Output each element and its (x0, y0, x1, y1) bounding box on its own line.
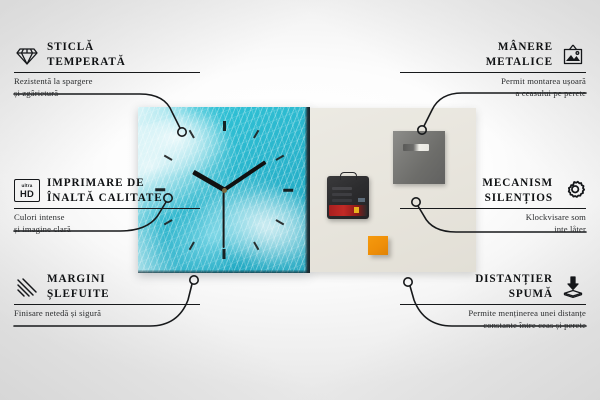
clock-second-hand (223, 190, 225, 248)
clock-tick (164, 155, 173, 161)
clock-tick (253, 241, 259, 250)
hd-badge-main-label: HD (20, 189, 34, 198)
callout-title: MÂNERE METALICE (486, 40, 553, 70)
diamond-icon (14, 42, 40, 68)
callout-divider (14, 72, 200, 74)
callout-subtitle-line2: constante între ceas și perete (400, 320, 586, 332)
hanger-slot (403, 144, 429, 151)
callout-divider (400, 304, 586, 306)
callout-subtitle-line1: Culori intense (14, 212, 200, 224)
clock-tick (189, 241, 195, 250)
callout-subtitle-line1: Permit montarea ușoară (400, 76, 586, 88)
clock-tick (223, 249, 226, 259)
callout-header: STICLĂ TEMPERATĂ (14, 40, 200, 70)
movement-chip (358, 198, 365, 202)
aa-battery (329, 205, 367, 216)
callout-sticla-temperata: STICLĂ TEMPERATĂ Rezistentă la spargere … (14, 40, 200, 100)
clock-tick (189, 130, 195, 139)
callout-subtitle-line1: Finisare netedă și sigură (14, 308, 200, 320)
callout-header: DISTANȚIER SPUMĂ (400, 272, 586, 302)
callout-divider (400, 72, 586, 74)
callout-mecanism-silentios: MECANISM SILENȚIOS Klockvisare som inte … (400, 176, 586, 236)
callout-title: STICLĂ TEMPERATĂ (47, 40, 126, 70)
press-down-icon (560, 274, 586, 300)
clock-tick (283, 189, 293, 192)
callout-subtitle-line2: inte låter (400, 224, 586, 236)
diagonal-lines-icon (14, 274, 40, 300)
callout-title: IMPRIMARE DE ÎNALTĂ CALITATE (47, 176, 163, 206)
callout-margini-slefuite: MARGINI ȘLEFUITE Finisare netedă și sigu… (14, 272, 200, 320)
callout-imprimare-calitate: ultra HD IMPRIMARE DE ÎNALTĂ CALITATE Cu… (14, 176, 200, 236)
quartz-movement (327, 176, 369, 219)
clock-center-hub (222, 188, 227, 193)
callout-title: MECANISM SILENȚIOS (482, 176, 553, 206)
callout-subtitle-line2: a ceasului pe perete (400, 88, 586, 100)
callout-header: ultra HD IMPRIMARE DE ÎNALTĂ CALITATE (14, 176, 200, 206)
movement-hanger-loop (340, 172, 357, 180)
callout-divider (14, 304, 200, 306)
callout-header: MARGINI ȘLEFUITE (14, 272, 200, 302)
callout-manere-metalice: MÂNERE METALICE Permit montarea ușoară a… (400, 40, 586, 100)
clock-minute-hand (223, 160, 267, 191)
ultra-hd-icon: ultra HD (14, 178, 40, 204)
clock-tick (253, 130, 259, 139)
callout-header: MECANISM SILENȚIOS (400, 176, 586, 206)
hd-badge: ultra HD (14, 179, 40, 202)
clock-tick (275, 219, 284, 225)
clock-tick (223, 121, 226, 131)
infographic-canvas: STICLĂ TEMPERATĂ Rezistentă la spargere … (0, 0, 600, 400)
callout-distantier-spuma: DISTANȚIER SPUMĂ Permite menținerea unei… (400, 272, 586, 332)
callout-subtitle-line2: și zgârietură (14, 88, 200, 100)
callout-header: MÂNERE METALICE (400, 40, 586, 70)
callout-subtitle-line2: și imagine clară (14, 224, 200, 236)
callout-title: MARGINI ȘLEFUITE (47, 272, 110, 302)
clock-tick (275, 155, 284, 161)
callout-subtitle-line1: Rezistentă la spargere (14, 76, 200, 88)
picture-frame-icon (560, 42, 586, 68)
callout-title: DISTANȚIER SPUMĂ (475, 272, 553, 302)
foam-spacer (368, 236, 388, 255)
movement-vents (332, 187, 352, 190)
gear-icon (560, 178, 586, 204)
callout-subtitle-line1: Klockvisare som (400, 212, 586, 224)
callout-divider (14, 208, 200, 210)
callout-divider (400, 208, 586, 210)
callout-subtitle-line1: Permite menținerea unei distanțe (400, 308, 586, 320)
